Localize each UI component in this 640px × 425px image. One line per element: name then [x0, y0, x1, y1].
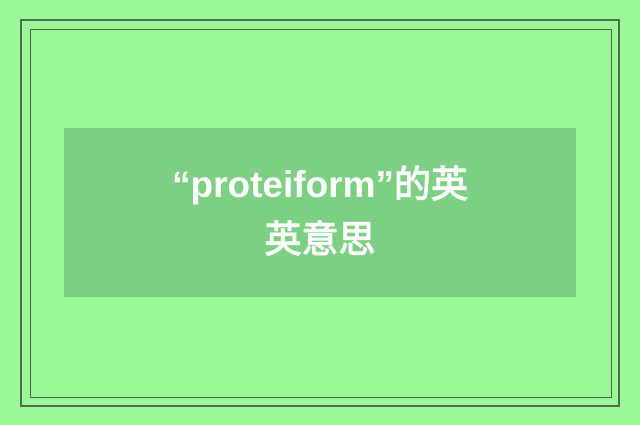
banner-title: “proteiform”的英英意思: [170, 158, 470, 268]
page-canvas: “proteiform”的英英意思: [0, 0, 640, 425]
banner-card: “proteiform”的英英意思: [64, 128, 576, 297]
